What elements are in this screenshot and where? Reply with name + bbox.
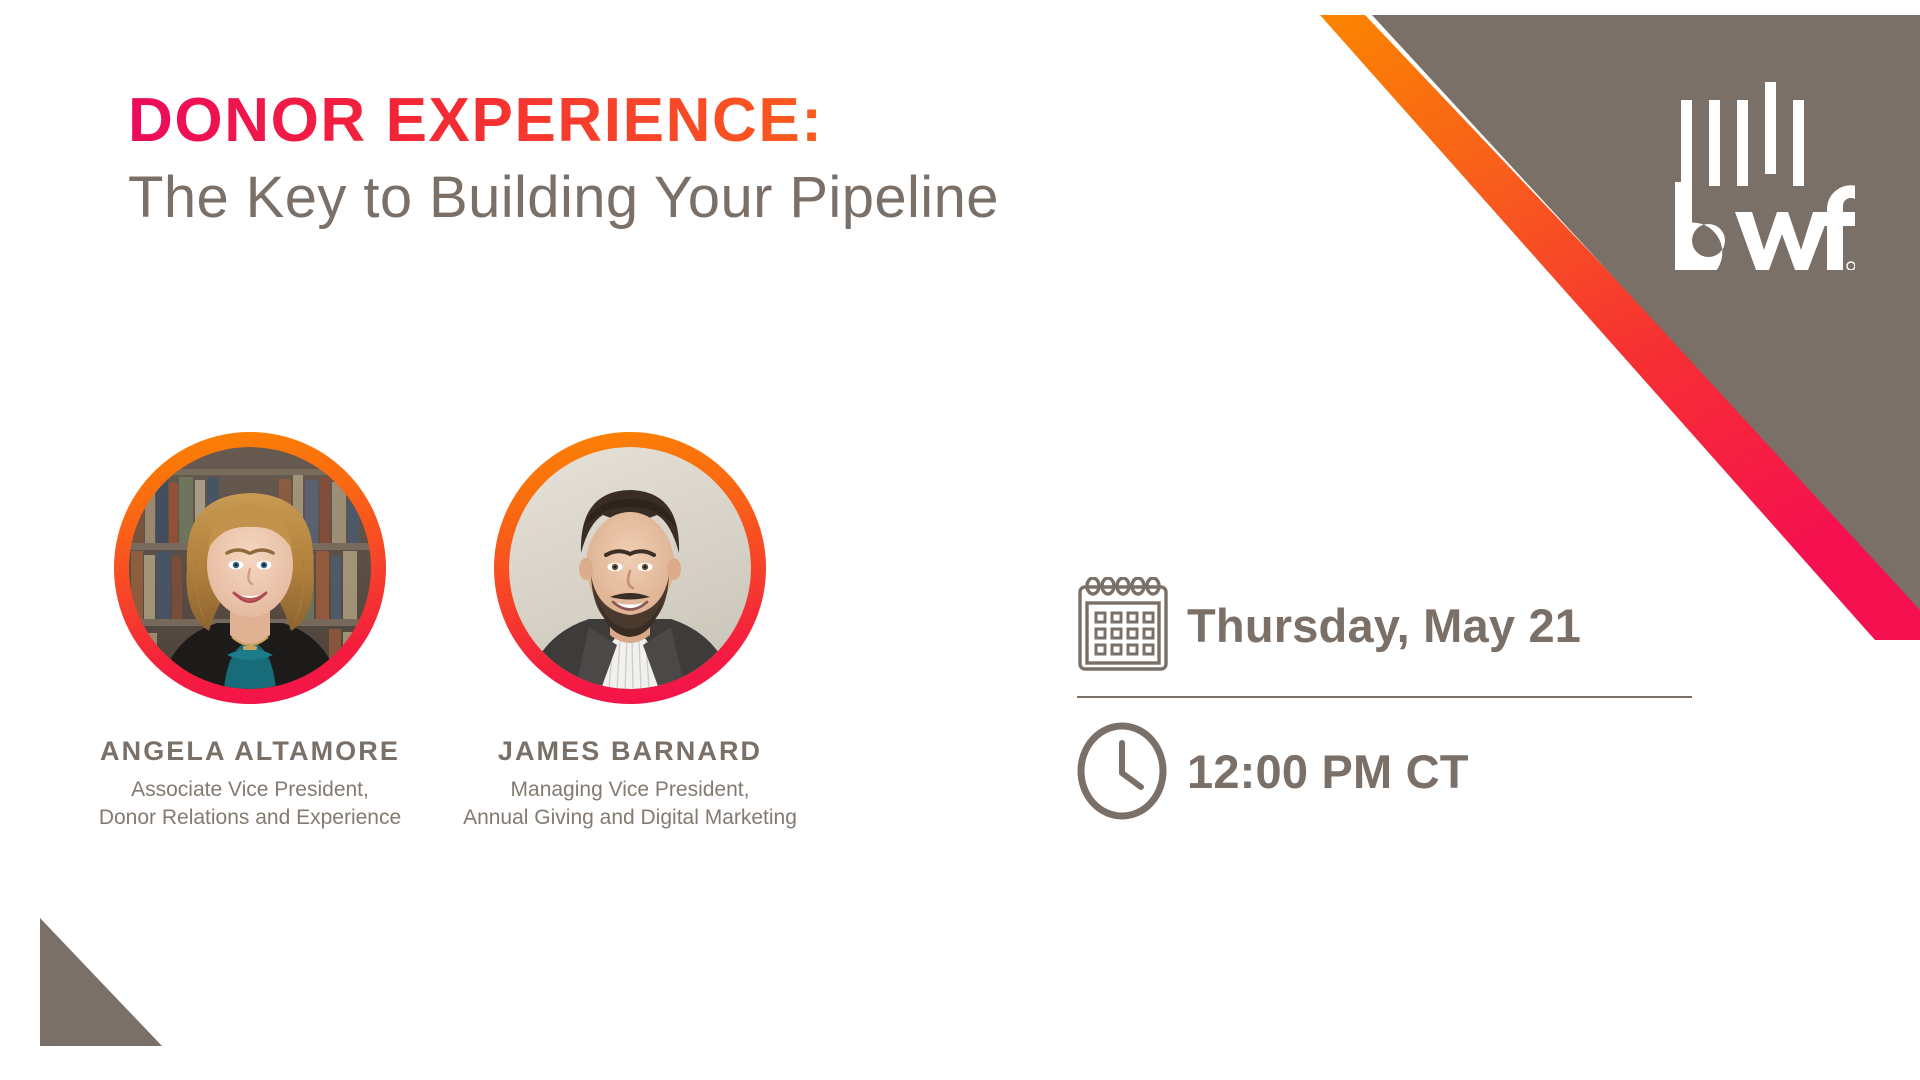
- page-subtitle: The Key to Building Your Pipeline: [128, 167, 1188, 230]
- headline-block: DONOR EXPERIENCE: The Key to Building Yo…: [128, 88, 1188, 230]
- avatar: [494, 432, 766, 704]
- speaker-name: ANGELA ALTAMORE: [100, 736, 400, 767]
- webinar-promo-canvas: DONOR EXPERIENCE: The Key to Building Yo…: [0, 0, 1920, 1080]
- avatar-photo-angela: [129, 447, 371, 689]
- speaker-list: ANGELA ALTAMORE Associate Vice President…: [70, 432, 810, 833]
- logo-wordmark: [1675, 182, 1855, 270]
- avatar: [114, 432, 386, 704]
- speaker-role-line1: Managing Vice President,: [463, 776, 797, 804]
- speaker-role-line1: Associate Vice President,: [99, 776, 401, 804]
- speaker-role: Associate Vice President, Donor Relation…: [99, 776, 401, 833]
- clock-icon: [1077, 721, 1187, 821]
- speaker-card: JAMES BARNARD Managing Vice President, A…: [450, 432, 810, 833]
- page-title: DONOR EXPERIENCE:: [128, 88, 1188, 153]
- speaker-role: Managing Vice President, Annual Giving a…: [463, 776, 797, 833]
- logo-bars: [1681, 82, 1804, 186]
- bwf-logo: [1675, 70, 1855, 270]
- registered-mark: [1847, 262, 1855, 270]
- speaker-card: ANGELA ALTAMORE Associate Vice President…: [70, 432, 430, 833]
- avatar-photo-james: [509, 447, 751, 689]
- event-details: Thursday, May 21 12:00 PM CT: [1077, 560, 1697, 836]
- event-date: Thursday, May 21: [1187, 598, 1581, 653]
- details-divider: [1077, 696, 1692, 698]
- event-time-row: 12:00 PM CT: [1077, 706, 1697, 836]
- bottom-left-corner-triangle: [40, 918, 162, 1046]
- speaker-role-line2: Annual Giving and Digital Marketing: [463, 804, 797, 832]
- calendar-icon: [1077, 577, 1187, 673]
- speaker-role-line2: Donor Relations and Experience: [99, 804, 401, 832]
- speaker-name: JAMES BARNARD: [498, 736, 762, 767]
- event-date-row: Thursday, May 21: [1077, 560, 1697, 690]
- event-time: 12:00 PM CT: [1187, 744, 1469, 799]
